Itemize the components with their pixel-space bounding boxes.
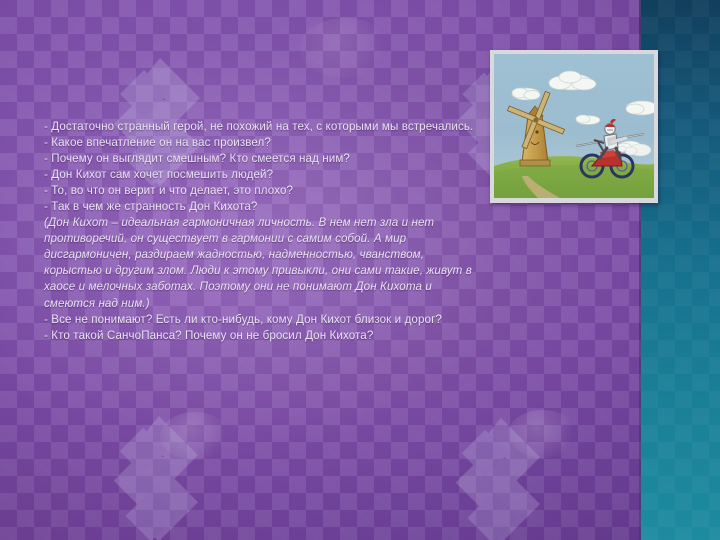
- slide-body-text: - Достаточно странный герой, не похожий …: [44, 119, 476, 344]
- slide-canvas: - Достаточно странный герой, не похожий …: [0, 0, 720, 540]
- text-line-9: - Кто такой СанчоПанса? Почему он не бро…: [44, 328, 476, 344]
- text-line-5: - То, во что он верит и что делает, это …: [44, 183, 476, 199]
- text-line-4: - Дон Кихот сам хочет посмешить людей?: [44, 167, 476, 183]
- text-line-8: - Все не понимают? Есть ли кто-нибудь, к…: [44, 312, 476, 328]
- slide-picture[interactable]: [490, 50, 658, 203]
- text-line-2: - Какое впечатление он на вас произвел?: [44, 135, 476, 151]
- text-line-3: - Почему он выглядит смешным? Кто смеетс…: [44, 151, 476, 167]
- text-line-1: - Достаточно странный герой, не похожий …: [44, 119, 476, 135]
- text-line-6: - Так в чем же странность Дон Кихота?: [44, 199, 476, 215]
- picture-image: [494, 54, 654, 198]
- text-line-7-parenthetical: (Дон Кихот – идеальная гармоничная лично…: [44, 215, 476, 311]
